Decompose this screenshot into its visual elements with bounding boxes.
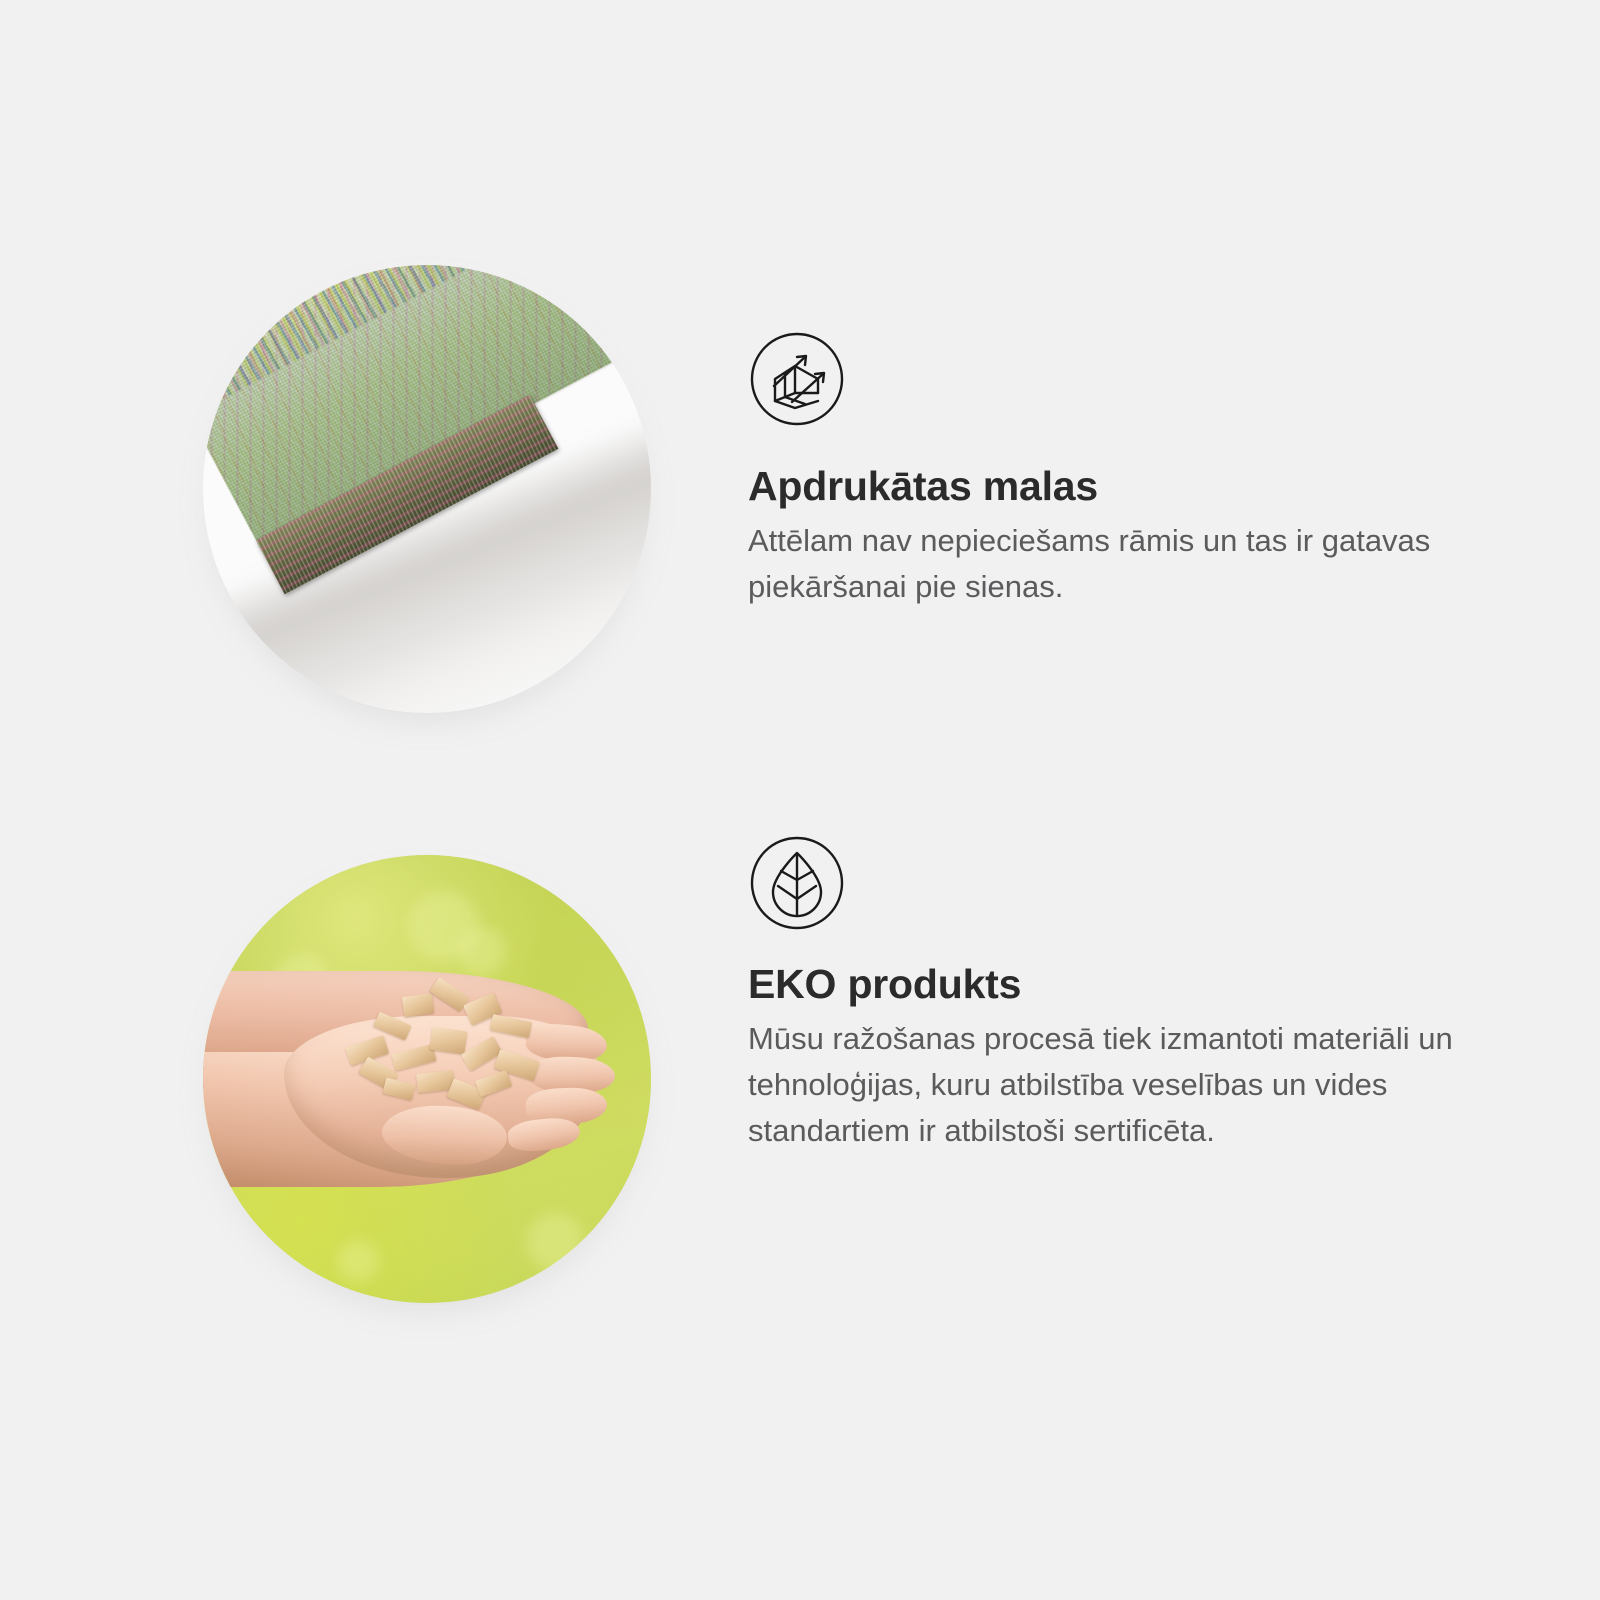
- feature-copy-eco-product: EKO produkts Mūsu ražošanas procesā tiek…: [748, 834, 1488, 1154]
- feature-title: Apdrukātas malas: [748, 428, 1488, 510]
- wood-chips-in-hands-photo: [203, 855, 651, 1303]
- wood-chip: [475, 1070, 512, 1097]
- bokeh-light: [337, 1240, 379, 1282]
- bokeh-light: [526, 1213, 584, 1271]
- feature-title: EKO produkts: [748, 932, 1488, 1008]
- canvas-print-corner-photo: [203, 265, 651, 713]
- product-features-page: Apdrukātas malas Attēlam nav nepieciešam…: [0, 0, 1600, 1600]
- bokeh-light: [458, 927, 506, 975]
- feature-block-printed-edges: Apdrukātas malas Attēlam nav nepieciešam…: [0, 230, 1600, 770]
- wood-chip: [383, 1077, 416, 1100]
- circular-photo-frame: [203, 855, 651, 1303]
- wood-chip: [429, 1027, 467, 1055]
- eco-photo-scene: [203, 855, 651, 1303]
- canvas-photo-scene: [203, 265, 651, 713]
- wood-chip: [490, 1014, 532, 1038]
- printed-edges-icon: [748, 330, 846, 428]
- circular-photo-frame: [203, 265, 651, 713]
- feature-description: Mūsu ražošanas procesā tiek izmantoti ma…: [748, 1016, 1468, 1154]
- wood-chip-pile: [337, 980, 570, 1123]
- leaf-icon: [748, 834, 846, 932]
- feature-description: Attēlam nav nepieciešams rāmis un tas ir…: [748, 518, 1468, 610]
- canvas-grass-band: [203, 265, 651, 417]
- feature-block-eco-product: EKO produkts Mūsu ražošanas procesā tiek…: [0, 820, 1600, 1380]
- feature-copy-printed-edges: Apdrukātas malas Attēlam nav nepieciešam…: [748, 330, 1488, 610]
- wood-chip: [401, 993, 434, 1017]
